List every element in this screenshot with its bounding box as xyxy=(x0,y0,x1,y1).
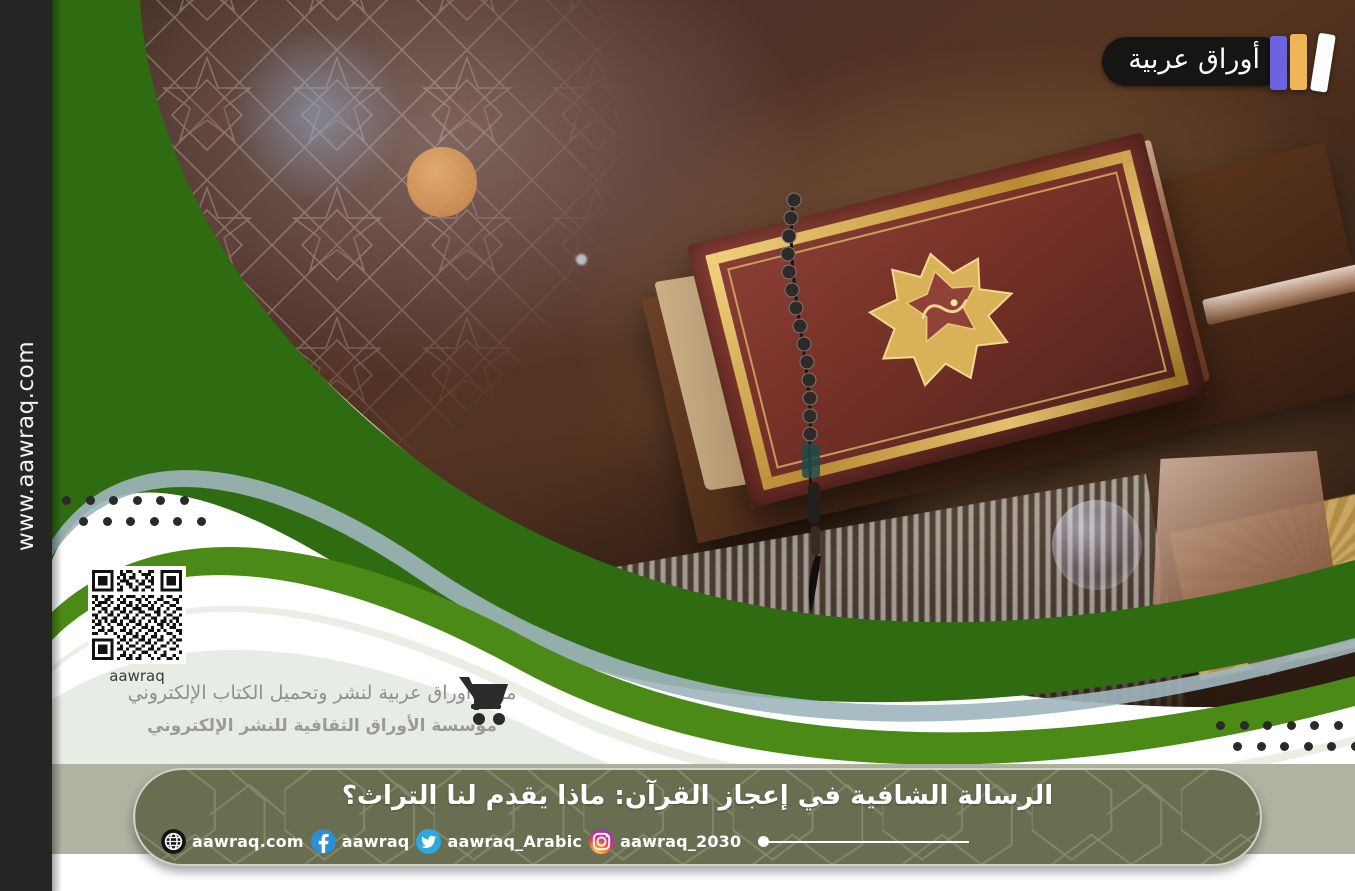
prayer-beads xyxy=(752,190,922,620)
book-orange-icon xyxy=(1290,34,1307,90)
shopping-cart-icon[interactable] xyxy=(455,671,517,733)
social-item-facebook[interactable]: aawraq xyxy=(311,829,410,854)
glass-bubble xyxy=(1052,500,1142,590)
social-handle-instagram: aawraq_2030 xyxy=(620,832,741,851)
social-item-instagram[interactable]: aawraq_2030 xyxy=(589,829,741,854)
brand-name: أوراق عربية xyxy=(1102,37,1286,86)
rule-line xyxy=(769,841,969,843)
qr-block: aawraq xyxy=(88,566,186,685)
social-handle-website: aawraq.com xyxy=(192,832,304,851)
cover-artwork xyxy=(52,0,1355,766)
rail-website-label: www.aawraq.com xyxy=(13,340,39,550)
social-links: aawraq.com aawraq aawraq_Arabic xyxy=(161,829,969,854)
title-bar: الرسالة الشافية في إعجاز القرآن: ماذا يق… xyxy=(133,768,1262,866)
progress-rule xyxy=(758,836,969,847)
facebook-icon xyxy=(311,829,336,854)
page-title: الرسالة الشافية في إعجاز القرآن: ماذا يق… xyxy=(135,781,1260,811)
rule-knob xyxy=(758,836,769,847)
dot-grid-right xyxy=(1216,721,1355,751)
social-item-twitter[interactable]: aawraq_Arabic xyxy=(416,829,582,854)
small-light-bokeh xyxy=(576,254,587,265)
orange-bokeh-circle xyxy=(407,147,477,217)
social-handle-facebook: aawraq xyxy=(342,832,410,851)
poster-canvas: aawraq موقع أوراق عربية لنشر وتحميل الكت… xyxy=(0,0,1355,891)
three-books-icon xyxy=(1270,32,1327,90)
globe-icon xyxy=(161,829,186,854)
social-item-website[interactable]: aawraq.com xyxy=(161,829,304,854)
twitter-icon xyxy=(416,829,441,854)
left-rail: www.aawraq.com xyxy=(0,0,52,891)
book-purple-icon xyxy=(1270,36,1287,90)
instagram-icon xyxy=(589,829,614,854)
dot-grid-left xyxy=(62,496,206,526)
social-handle-twitter: aawraq_Arabic xyxy=(447,832,582,851)
qr-code-icon[interactable] xyxy=(88,566,186,664)
blue-light-bokeh xyxy=(222,20,412,210)
rail-shadow xyxy=(52,0,62,891)
brand-logo[interactable]: أوراق عربية xyxy=(1102,32,1327,90)
